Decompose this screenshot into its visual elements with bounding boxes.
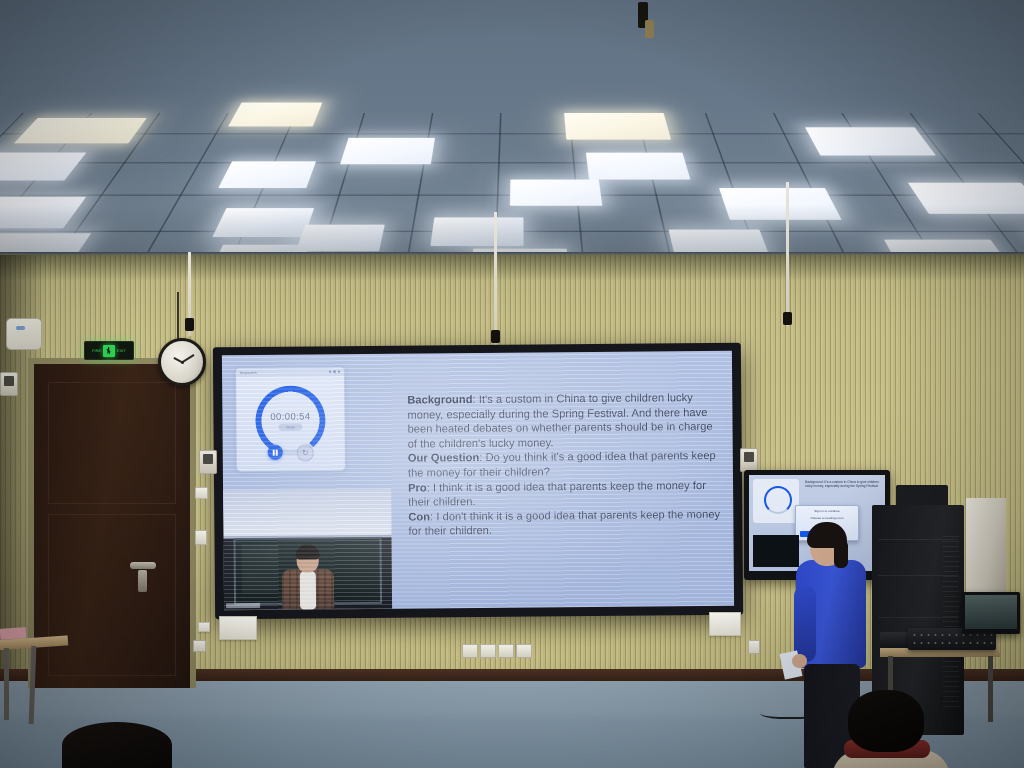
clock-minute-hand: [182, 354, 195, 363]
preview-timer-thumb: [753, 479, 799, 523]
audio-interface[interactable]: [880, 632, 910, 648]
clock-center-hub: [181, 361, 184, 364]
control-monitor[interactable]: [962, 592, 1020, 634]
wall-switch-plate[interactable]: [193, 640, 206, 652]
wall-notice-paper: [709, 612, 741, 636]
ceiling-light-panel: [228, 103, 322, 127]
wall-switch-plate[interactable]: [195, 487, 208, 499]
slide-body: I think it is a good idea that parents k…: [408, 480, 706, 509]
ceiling-light-panel: [510, 180, 602, 206]
stopwatch-lap-label: 00:54: [287, 425, 295, 429]
running-man-icon: [103, 345, 115, 357]
pause-icon[interactable]: [268, 445, 283, 460]
wall-notice-paper: [198, 622, 210, 632]
stopwatch-time: 00:00:54: [236, 411, 344, 423]
ceiling-light-panel: [805, 127, 936, 155]
ceiling-sensor-icon: [645, 20, 654, 38]
wall-speaker-icon: [740, 448, 758, 472]
drop-pole-camera-icon: [491, 330, 500, 343]
slide-label: Pro: [408, 482, 427, 494]
slide-label: Con: [408, 511, 430, 523]
ceiling-light-panel: [218, 161, 316, 188]
drop-pole-camera-icon: [783, 312, 792, 325]
slide-text-block: Background: It's a custom in China to gi…: [407, 391, 724, 540]
screen-surface[interactable]: Stopwatch 00:00:54 00:54 ↻: [222, 351, 734, 610]
presenter-hand: [792, 654, 807, 668]
presenter-ponytail: [834, 540, 848, 568]
wall-notice-paper: [219, 616, 257, 640]
preview-slide-text: Background: It's a custom in China to gi…: [805, 480, 882, 489]
ceiling-drop-pole: [786, 182, 789, 326]
sensor-indicator-icon: [16, 326, 25, 330]
window-controls-icon[interactable]: [329, 370, 341, 373]
wall-switch-plate[interactable]: [748, 640, 760, 654]
preview-video-thumb: [753, 535, 799, 567]
slide-body: I don't think it is a good idea that par…: [408, 509, 720, 538]
student-video-feed[interactable]: [223, 489, 392, 610]
wall-top-shadow: [0, 255, 1024, 281]
stopwatch-lap-pill: 00:54: [278, 424, 302, 431]
control-monitor-screen: [965, 595, 1017, 629]
reset-icon[interactable]: ↻: [297, 444, 314, 461]
ceiling-light-panel: [586, 153, 691, 180]
stopwatch-controls: ↻: [237, 444, 345, 462]
clock-mount-rod: [177, 292, 179, 340]
ceiling-drop-pole: [494, 212, 497, 348]
power-outlet-row[interactable]: [462, 644, 532, 658]
exit-sign-left-text: FIRE: [92, 349, 101, 353]
wall-clock: [158, 338, 206, 386]
slide-line: Our Question: Do you think it's a good i…: [408, 449, 724, 481]
desk-leg: [4, 648, 9, 720]
power-outlet: [498, 644, 514, 658]
exit-sign-right-text: EXIT: [117, 349, 126, 353]
door-panel: [48, 514, 176, 676]
slide-line: Con: I don't think it is a good idea tha…: [408, 508, 724, 540]
drop-pole-camera-icon: [185, 318, 194, 331]
wall-speaker-icon: [0, 372, 18, 396]
ceiling-light-panel: [340, 138, 435, 164]
slide-label: Background: [407, 394, 472, 407]
door-lock-icon: [138, 570, 147, 592]
rack-vent-grill: [943, 533, 959, 707]
door-panel: [48, 382, 176, 504]
ceiling-light-panel: [14, 118, 147, 143]
stopwatch-titlebar: Stopwatch: [236, 367, 344, 377]
power-outlet: [516, 644, 532, 658]
video-student-shirt: [300, 571, 316, 609]
wall-speaker-icon: [199, 450, 217, 474]
power-outlet: [480, 644, 496, 658]
slide-label: Our Question: [408, 452, 480, 465]
preview-dialog-line1: Sign in to continue: [796, 509, 858, 513]
foreground-student-right: [836, 690, 956, 768]
ceiling-light-panel: [564, 113, 671, 140]
student-head: [848, 690, 924, 752]
av-desk-leg: [988, 656, 993, 722]
video-student: [282, 547, 335, 609]
slide-line: Background: It's a custom in China to gi…: [407, 391, 723, 452]
slide-line: Pro: I think it is a good idea that pare…: [408, 478, 724, 510]
wall-sensor-box: [6, 318, 42, 350]
projection-screen: Stopwatch 00:00:54 00:54 ↻: [213, 343, 743, 620]
classroom-photo: FIRE EXIT Stopwatch 00:00:54: [0, 0, 1024, 768]
fire-exit-sign: FIRE EXIT: [84, 341, 134, 360]
wall-switch-plate[interactable]: [195, 530, 207, 545]
stopwatch-title: Stopwatch: [240, 370, 257, 374]
foreground-student-left: [62, 722, 172, 768]
preview-progress-ring-icon: [764, 486, 792, 514]
video-student-hair: [296, 544, 320, 559]
preview-dialog-line2: Choose a meeting room: [796, 516, 858, 520]
video-caption-strip: [226, 603, 260, 608]
video-upper-wall: [223, 489, 391, 536]
stopwatch-widget[interactable]: Stopwatch 00:00:54 00:54 ↻: [235, 366, 346, 472]
door-handle[interactable]: [130, 562, 156, 569]
power-outlet: [462, 644, 478, 658]
